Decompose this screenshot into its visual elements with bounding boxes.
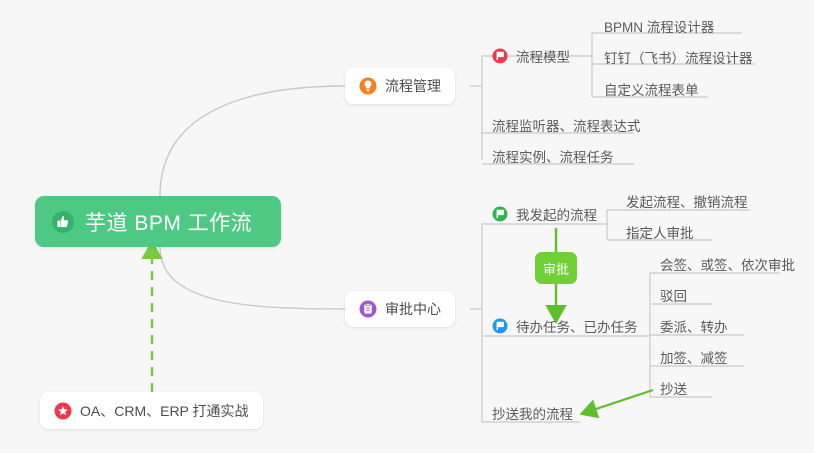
root-node[interactable]: 芋道 BPM 工作流 [35,196,281,247]
leaf-process-listener-expression-label: 流程监听器、流程表达式 [492,115,641,135]
leaf-reject[interactable]: 驳回 [660,280,687,310]
leaf-start-cancel-process[interactable]: 发起流程、撤销流程 [626,186,748,216]
node-process-management-label: 流程管理 [385,76,441,96]
star-red-icon [54,402,72,420]
root-label: 芋道 BPM 工作流 [85,207,252,237]
leaf-carbon-copy-label: 抄送 [660,378,687,398]
node-process-model-label: 流程模型 [516,46,570,66]
leaf-custom-process-form-label: 自定义流程表单 [604,79,699,99]
mindmap-canvas: 芋道 BPM 工作流 流程管理 流程模型 BPMN 流程设计器 钉钉（飞书）流程… [0,0,814,453]
node-todo-done-tasks-label: 待办任务、已办任务 [516,316,638,336]
leaf-counter-or-sequential-sign[interactable]: 会签、或签、依次审批 [660,249,795,279]
approval-tag[interactable]: 审批 [535,252,577,284]
leaf-reject-label: 驳回 [660,285,687,305]
leaf-custom-process-form[interactable]: 自定义流程表单 [604,74,699,104]
node-oa-crm-erp[interactable]: OA、CRM、ERP 打通实战 [40,392,263,429]
leaf-dingtalk-feishu-designer[interactable]: 钉钉（飞书）流程设计器 [604,42,753,72]
flag-green-icon [492,206,508,222]
leaf-add-remove-sign-label: 加签、减签 [660,347,728,367]
approval-tag-label: 审批 [543,259,569,278]
thumbs-up-icon [51,210,75,234]
leaf-carbon-copy[interactable]: 抄送 [660,373,687,403]
leaf-bpmn-designer-label: BPMN 流程设计器 [604,16,714,36]
leaf-process-listener-expression[interactable]: 流程监听器、流程表达式 [492,110,641,140]
flag-red-icon [492,48,508,64]
leaf-delegate-transfer[interactable]: 委派、转办 [660,311,728,341]
node-todo-done-tasks[interactable]: 待办任务、已办任务 [492,311,638,341]
leaf-cc-my-process[interactable]: 抄送我的流程 [492,398,573,428]
lightbulb-icon [359,77,377,95]
node-my-initiated-process[interactable]: 我发起的流程 [492,199,597,229]
leaf-delegate-transfer-label: 委派、转办 [660,316,728,336]
node-approval-center-label: 审批中心 [385,299,441,319]
leaf-process-instance-task[interactable]: 流程实例、流程任务 [492,141,614,171]
node-approval-center[interactable]: 审批中心 [345,291,455,327]
node-oa-crm-erp-label: OA、CRM、ERP 打通实战 [80,401,249,421]
leaf-assignee-approval[interactable]: 指定人审批 [626,217,694,247]
node-process-management[interactable]: 流程管理 [345,68,455,104]
leaf-start-cancel-process-label: 发起流程、撤销流程 [626,191,748,211]
leaf-bpmn-designer[interactable]: BPMN 流程设计器 [604,11,714,41]
leaf-assignee-approval-label: 指定人审批 [626,222,694,242]
leaf-counter-or-sequential-sign-label: 会签、或签、依次审批 [660,254,795,274]
leaf-add-remove-sign[interactable]: 加签、减签 [660,342,728,372]
leaf-dingtalk-feishu-designer-label: 钉钉（飞书）流程设计器 [604,47,753,67]
node-process-model[interactable]: 流程模型 [492,41,570,71]
node-my-initiated-process-label: 我发起的流程 [516,204,597,224]
leaf-cc-my-process-label: 抄送我的流程 [492,403,573,423]
leaf-process-instance-task-label: 流程实例、流程任务 [492,146,614,166]
flag-blue-icon [492,318,508,334]
clipboard-purple-icon [359,300,377,318]
